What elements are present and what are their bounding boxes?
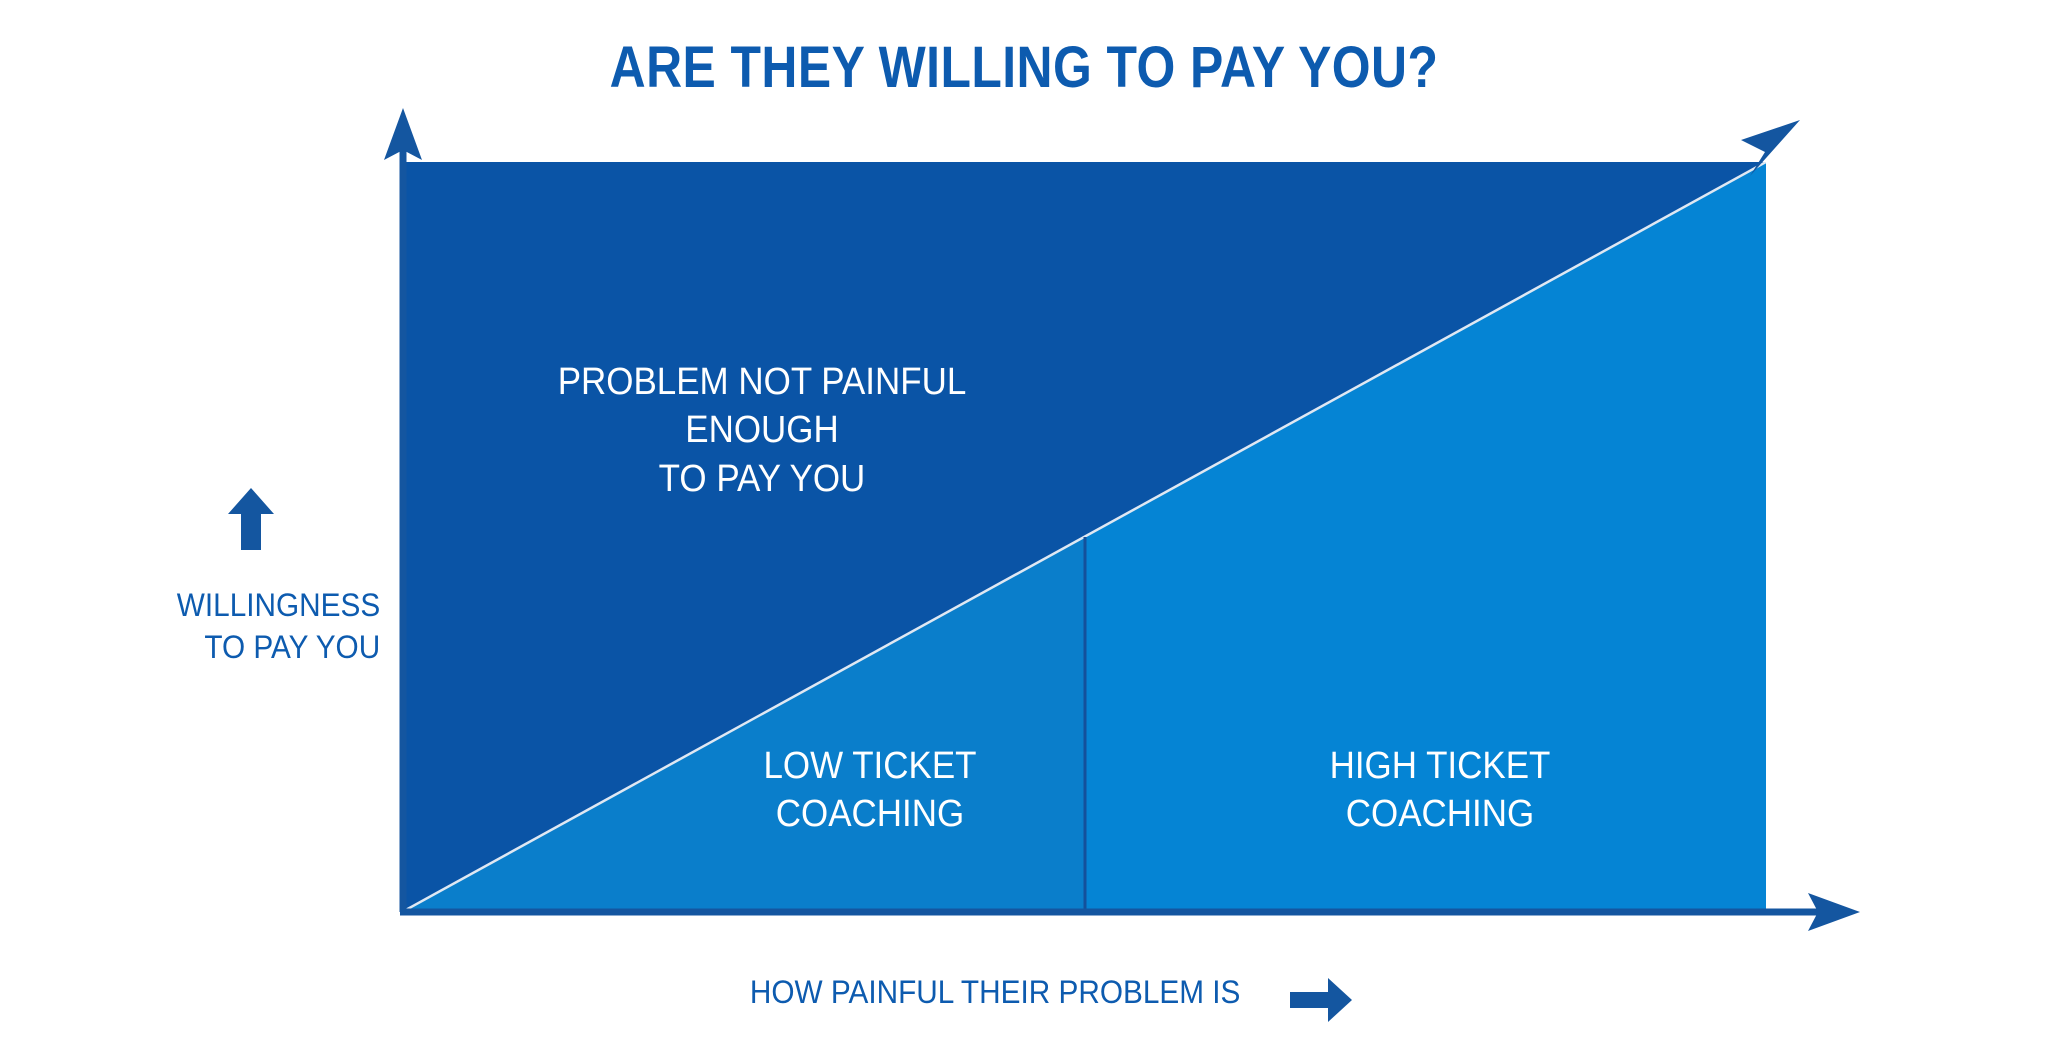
region-label-high-ticket: HIGH TICKET COACHING [1302,742,1578,839]
region-label-problem-not-painful: PROBLEM NOT PAINFUL ENOUGH TO PAY YOU [477,358,1047,503]
y-axis-label: WILLINGNESS TO PAY YOU [120,585,380,668]
arrow-right-icon [1290,978,1352,1022]
region-label-low-ticket: LOW TICKET COACHING [750,742,989,839]
y-axis-arrowhead [384,108,422,160]
infographic-canvas: ARE THEY WILLING TO PAY YOU? PROBLEM NOT… [0,0,2048,1058]
x-axis-label: HOW PAINFUL THEIR PROBLEM IS [720,972,1241,1014]
arrow-up-icon [228,488,274,550]
x-axis-arrowhead [1808,893,1860,931]
page-title: ARE THEY WILLING TO PAY YOU? [143,34,1904,101]
